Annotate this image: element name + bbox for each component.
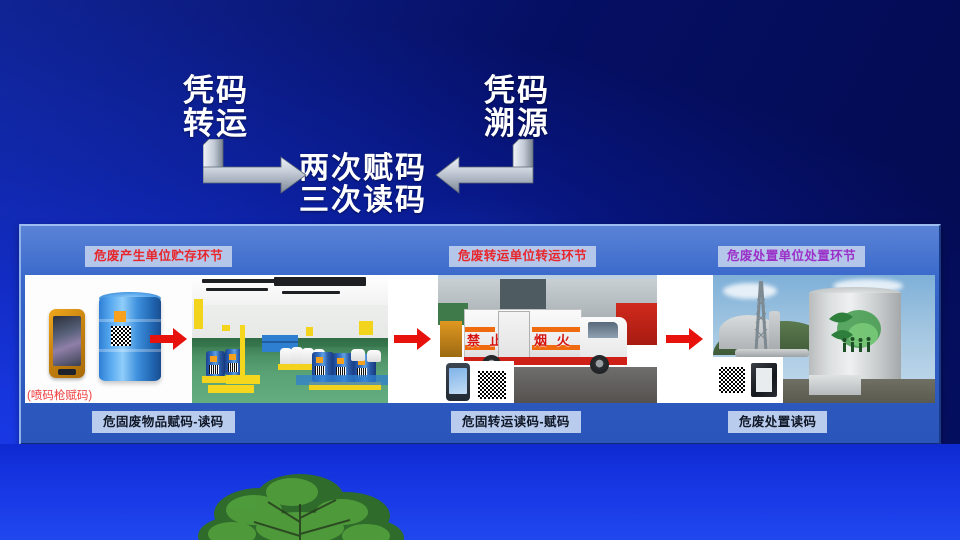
headline-left-line2: 转运 [183,107,249,140]
stage-tag-storage: 危废产生单位贮存环节 [85,246,232,267]
red-arrow-icon [394,327,432,351]
arrow-gap-3 [657,275,713,403]
headline-left: 凭码 转运 [183,74,249,141]
mobile-scanner-image [446,363,470,401]
elbow-arrow-right-icon [203,139,308,199]
slide-canvas: 凭码 转运 凭码 溯源 两次赋码 三次读码 [0,0,960,540]
red-arrow-icon [150,327,188,351]
headline-center: 两次赋码 三次读码 [299,153,427,218]
caption-transfer: 危固转运读码-赋码 [451,411,581,433]
bulk-sack [351,349,365,361]
storage-rack-shelf [262,341,298,343]
wall-sign [194,299,203,329]
tree-photo [150,452,480,540]
headline-left-line1: 凭码 [183,74,249,107]
caption-storage: 危固废物品赋码-读码 [92,411,235,433]
stage-tag-transfer: 危废转运单位转运环节 [449,246,596,267]
wall-sign [359,321,373,335]
floor-blue-stripe [296,375,388,385]
drum-rib [99,319,161,322]
disposal-qr-code [719,367,745,393]
elbow-arrow-left-icon [434,139,539,199]
ceiling-beam [202,279,280,283]
fixed-code-reader-image [751,363,777,397]
plant-equipment-block [809,375,861,395]
headline-right-line2: 溯源 [484,107,550,140]
drum-orange-label [114,311,126,322]
pallet-jack-forks [208,385,254,393]
headline-center-line1: 两次赋码 [299,153,427,185]
tree-icon [150,452,480,540]
caption-disposal: 危废处置读码 [728,411,827,433]
headline-right: 凭码 溯源 [484,74,550,141]
pallet-jack-body [226,375,260,384]
truck-wheel [590,355,609,374]
plant-horizontal-pipe [735,349,809,357]
warehouse-drum [206,351,225,377]
ceiling-beam [282,291,340,294]
photo-disposal-plant [713,275,935,403]
wall-sign [222,325,230,331]
ceiling-beam [206,288,268,291]
handheld-scanner-image [49,309,85,378]
pallet-jack-handle [240,325,245,381]
lattice-tower-image [753,281,769,359]
truck-warning-text-right: 烟 火 [534,330,573,349]
spray-gun-note: (喷码枪赋码) [27,387,92,403]
headline-center-line2: 三次读码 [299,185,427,217]
background-equipment [440,321,462,357]
drum-qr-code [111,326,131,346]
red-arrow-icon [666,327,704,351]
photo-handheld-and-drum [25,275,192,403]
environmental-mural-icon [825,305,887,355]
ceiling-beam [274,277,366,286]
photo-storage-warehouse [192,275,388,403]
truck-window [588,322,618,338]
truck-rear-door [498,311,530,361]
photo-transport-truck: 禁 止 烟 火 [438,275,657,403]
photo-strip: 禁 止 烟 火 [25,275,935,403]
headline-right-line1: 凭码 [484,74,550,107]
stage-tag-disposal: 危废处置单位处置环节 [718,246,865,267]
arrow-gap-2 [388,275,438,403]
transport-qr-code [478,371,506,399]
bottom-sky-band [0,444,960,540]
wall-sign [306,327,313,336]
bulk-sack [367,350,381,362]
